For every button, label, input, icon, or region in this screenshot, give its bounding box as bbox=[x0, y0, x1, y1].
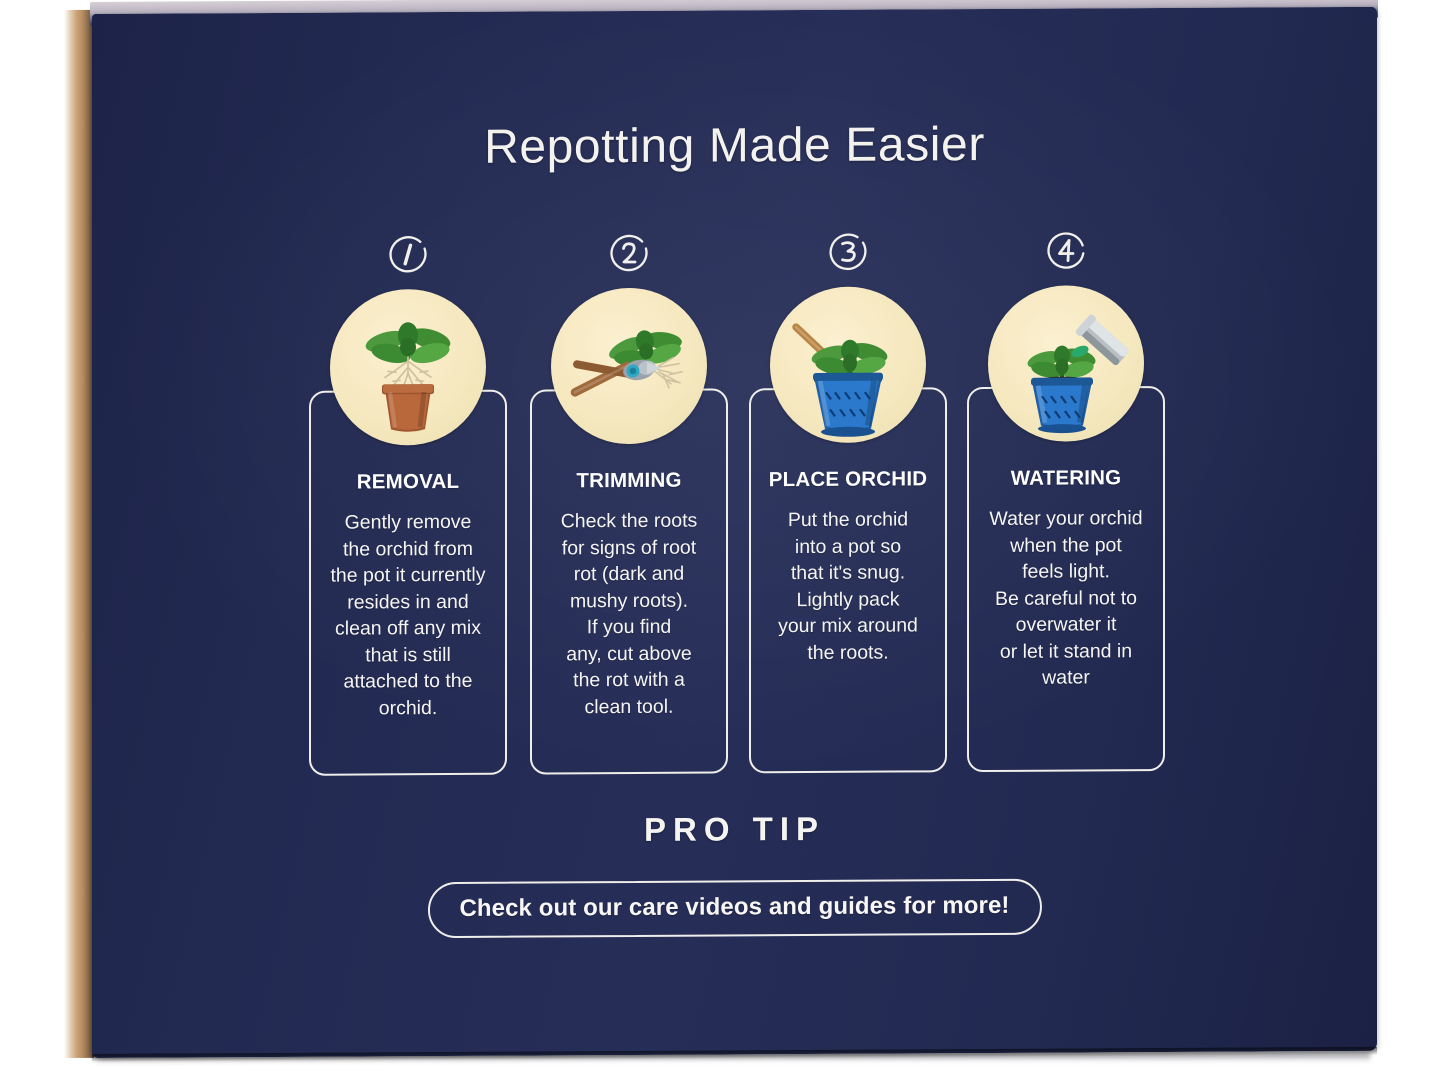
step-heading-4: WATERING bbox=[967, 466, 1165, 491]
page-title: Repotting Made Easier bbox=[92, 115, 1377, 177]
step-body-2: Check the roots for signs of root rot (d… bbox=[534, 507, 724, 720]
step-removal: REMOVAL Gently remove the orchid from th… bbox=[309, 227, 507, 788]
step-heading-2: TRIMMING bbox=[530, 468, 728, 493]
box-cardboard-left-edge bbox=[64, 10, 94, 1058]
step-number-badge-4 bbox=[1045, 229, 1087, 271]
step-number-badge-1 bbox=[387, 233, 429, 275]
box-artwork: Repotting Made Easier bbox=[92, 7, 1377, 1058]
step-body-1: Gently remove the orchid from the pot it… bbox=[313, 509, 503, 722]
step-heading-1: REMOVAL bbox=[309, 470, 507, 495]
product-box-photo: Repotting Made Easier bbox=[0, 0, 1445, 1075]
step-watering: WATERING Water your orchid when the pot … bbox=[967, 223, 1165, 784]
care-videos-callout: Check out our care videos and guides for… bbox=[427, 879, 1041, 938]
step-illustration-4 bbox=[988, 285, 1144, 442]
step-illustration-1 bbox=[330, 289, 486, 446]
step-heading-3: PLACE ORCHID bbox=[749, 467, 947, 492]
step-number-badge-2 bbox=[608, 232, 650, 274]
steps-row: REMOVAL Gently remove the orchid from th… bbox=[297, 223, 1197, 788]
step-body-3: Put the orchid into a pot so that it's s… bbox=[753, 506, 943, 666]
step-illustration-2 bbox=[551, 288, 707, 445]
step-number-badge-3 bbox=[827, 231, 869, 273]
step-body-4: Water your orchid when the pot feels lig… bbox=[971, 505, 1161, 692]
step-trimming: TRIMMING Check the roots for signs of ro… bbox=[530, 225, 728, 786]
pro-tip-label: PRO TIP bbox=[92, 807, 1377, 852]
step-illustration-3 bbox=[770, 286, 926, 443]
step-place-orchid: PLACE ORCHID Put the orchid into a pot s… bbox=[749, 224, 947, 785]
